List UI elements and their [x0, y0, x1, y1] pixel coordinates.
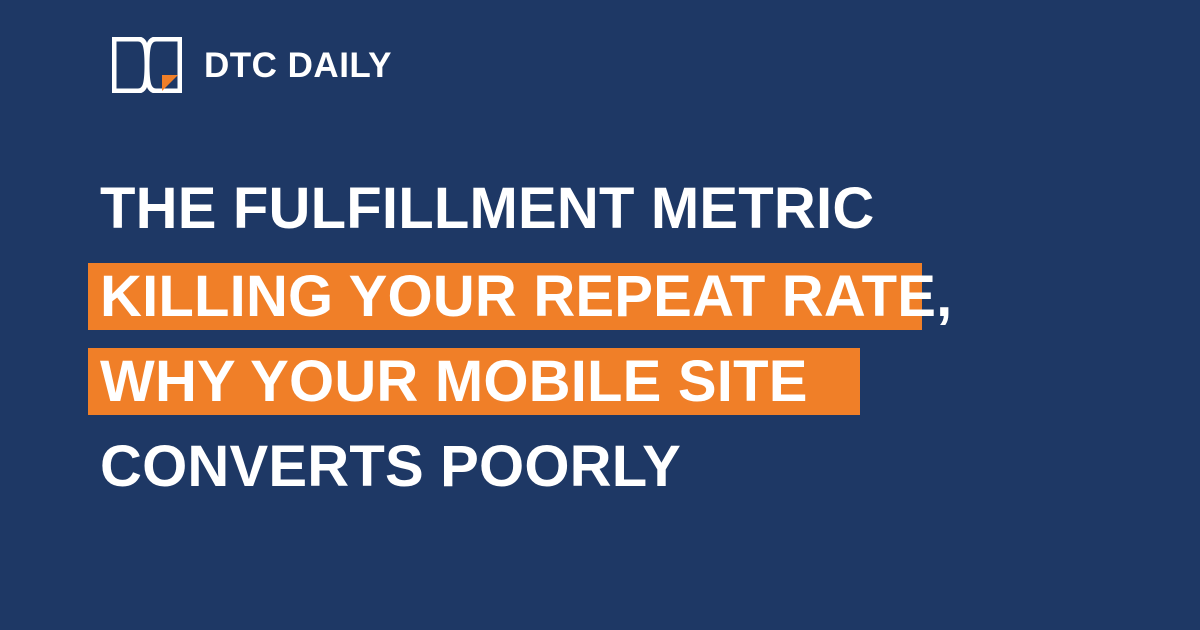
- brand-lockup[interactable]: DTC DAILY: [112, 36, 392, 94]
- headline-line-text: CONVERTS POORLY: [88, 433, 681, 500]
- headline-line: WHY YOUR MOBILE SITE: [88, 348, 1128, 433]
- headline-line: CONVERTS POORLY: [88, 433, 1128, 521]
- headline-line-text: WHY YOUR MOBILE SITE: [88, 348, 808, 415]
- headline-line-text: THE FULFILLMENT METRIC: [88, 175, 874, 242]
- headline-block: THE FULFILLMENT METRIC KILLING YOUR REPE…: [88, 175, 1128, 521]
- brand-name: DTC DAILY: [204, 48, 392, 83]
- headline-line: KILLING YOUR REPEAT RATE,: [88, 263, 1128, 348]
- headline-line: THE FULFILLMENT METRIC: [88, 175, 1128, 263]
- open-book-icon: [112, 37, 182, 93]
- book-left-page: [114, 39, 147, 91]
- headline-line-text: KILLING YOUR REPEAT RATE,: [88, 263, 953, 330]
- social-card: DTC DAILY THE FULFILLMENT METRIC KILLING…: [0, 0, 1200, 630]
